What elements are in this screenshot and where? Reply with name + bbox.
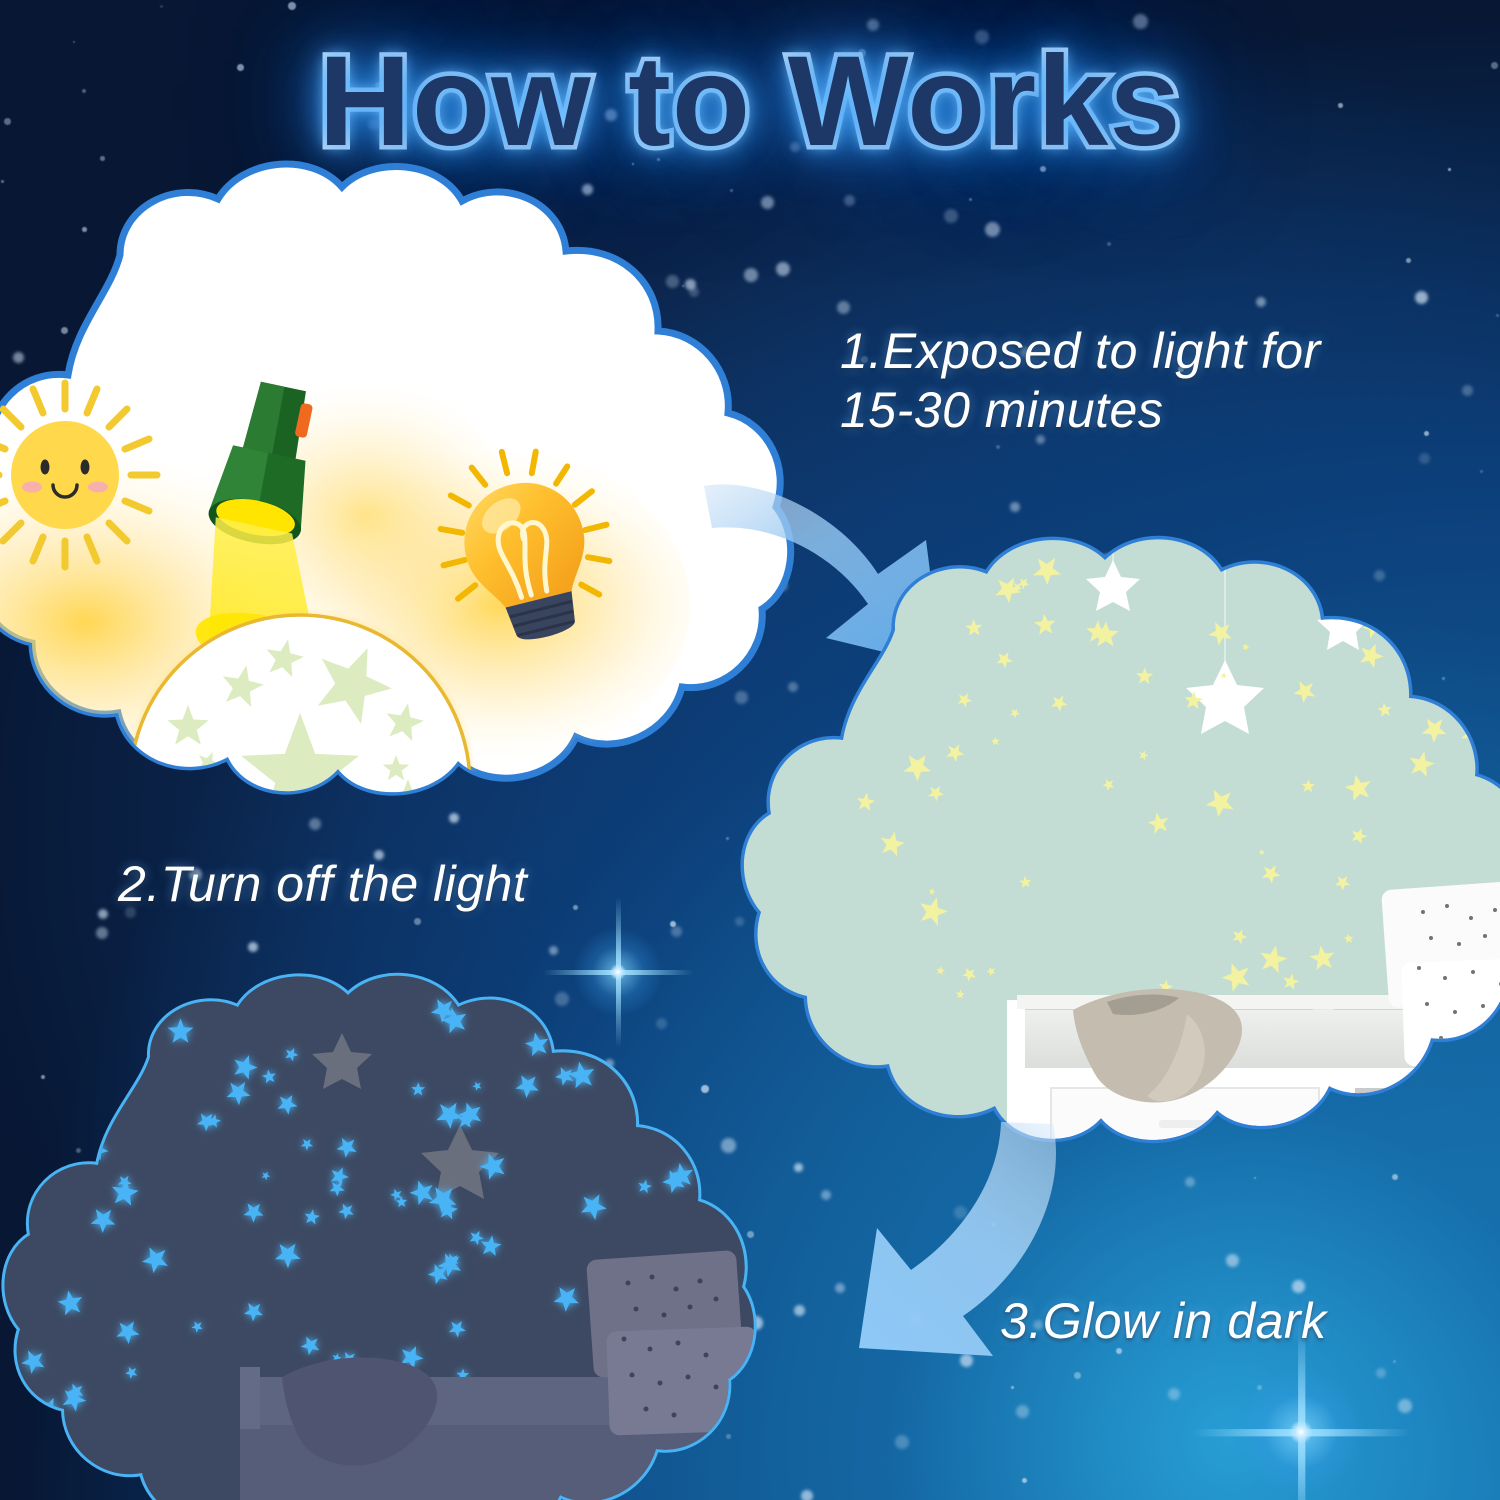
page-title-text: How to Works	[319, 30, 1182, 173]
step-1-caption: 1.Exposed to light for 15-30 minutes	[840, 322, 1480, 440]
cloud-step-1	[0, 185, 810, 825]
step-2-caption: 2.Turn off the light	[118, 855, 527, 914]
infographic-root: How to Works	[0, 0, 1500, 1500]
page-title: How to Works	[0, 28, 1500, 175]
step-3-caption: 3.Glow in dark	[1000, 1292, 1327, 1351]
cloud-step-3-dark-room	[0, 985, 840, 1500]
cloud-step-2-lit-room	[755, 540, 1500, 1180]
